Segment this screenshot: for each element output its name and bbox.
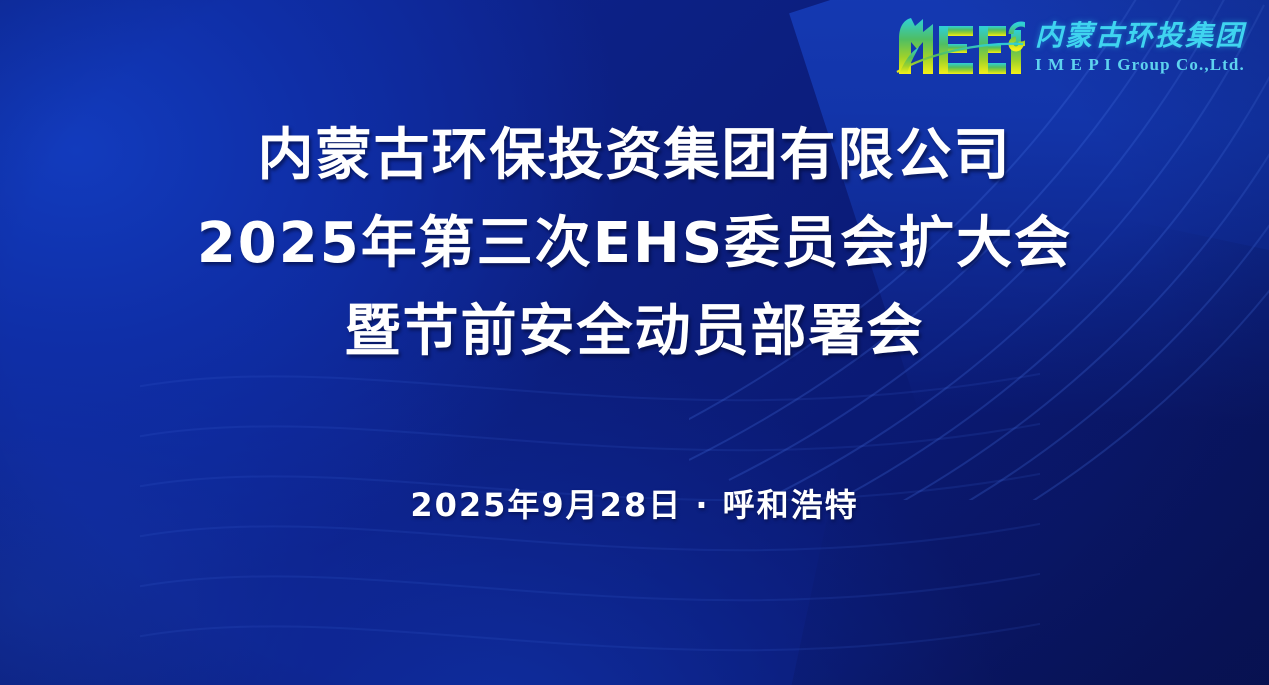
logo-text-block: 内蒙古环投集团 I M E P I Group Co.,Ltd. (1035, 22, 1245, 73)
presentation-title-slide: 内蒙古环投集团 I M E P I Group Co.,Ltd. 内蒙古环保投资… (0, 0, 1269, 685)
logo-company-name-cn: 内蒙古环投集团 (1035, 22, 1245, 50)
mei-monogram-icon (893, 16, 1025, 78)
logo-company-name-en: I M E P I Group Co.,Ltd. (1035, 56, 1245, 73)
title-line-3: 暨节前安全动员部署会 (345, 304, 925, 360)
title-line-1: 内蒙古环保投资集团有限公司 (258, 128, 1012, 184)
title-block: 内蒙古环保投资集团有限公司 2025年第三次EHS委员会扩大会 暨节前安全动员部… (0, 128, 1269, 526)
company-logo: 内蒙古环投集团 I M E P I Group Co.,Ltd. (893, 16, 1245, 78)
date-location-line: 2025年9月28日 · 呼和浩特 (410, 480, 858, 526)
title-line-2: 2025年第三次EHS委员会扩大会 (197, 216, 1072, 272)
